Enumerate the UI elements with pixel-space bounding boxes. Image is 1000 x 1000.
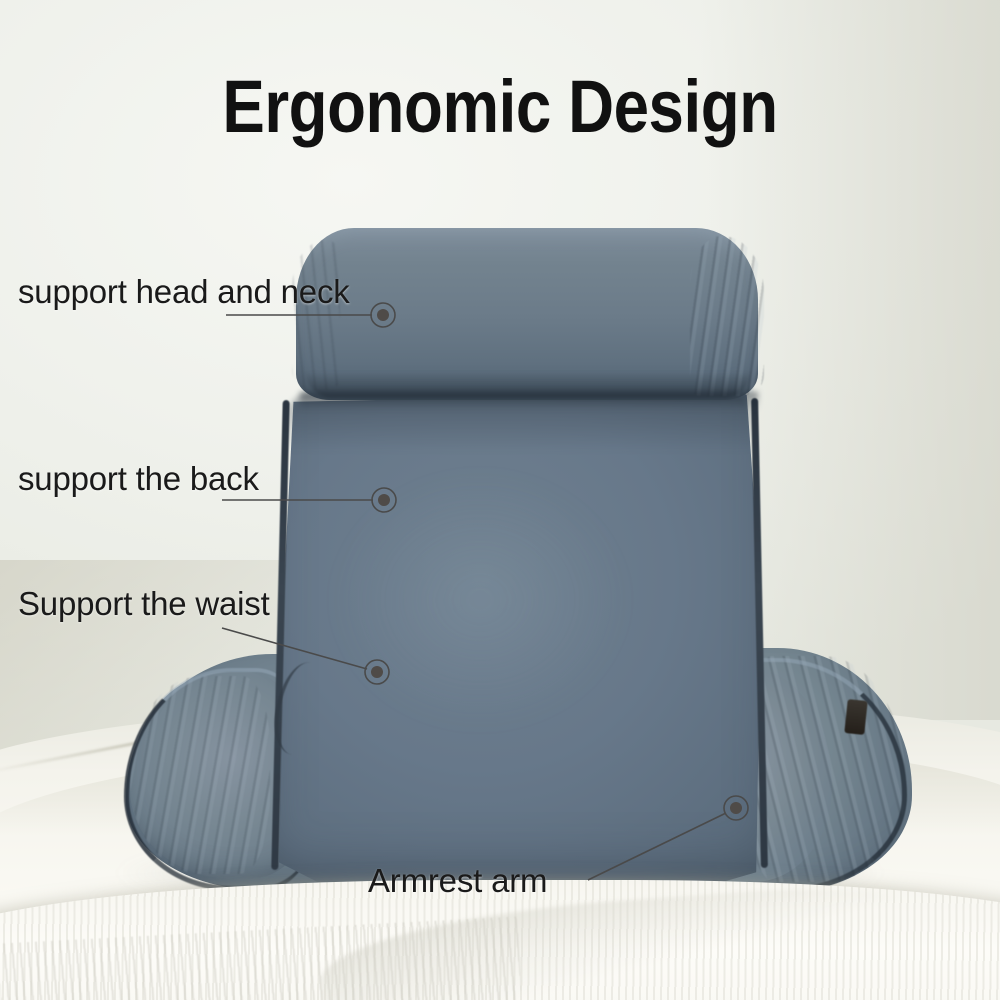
product-infographic: support head and neck support the back S… [0,0,1000,1000]
page-title: Ergonomic Design [70,64,930,149]
fabric-care-tag [844,699,867,735]
backrest-sheen [330,470,630,730]
headrest-backrest-gap [300,392,758,410]
callout-label-support-the-waist: Support the waist [18,585,270,623]
headrest-ruche-left [292,240,340,390]
callout-label-armrest-arm: Armrest arm [368,862,547,900]
callout-label-support-head-and-neck: support head and neck [18,273,350,311]
callout-label-support-the-back: support the back [18,460,259,498]
